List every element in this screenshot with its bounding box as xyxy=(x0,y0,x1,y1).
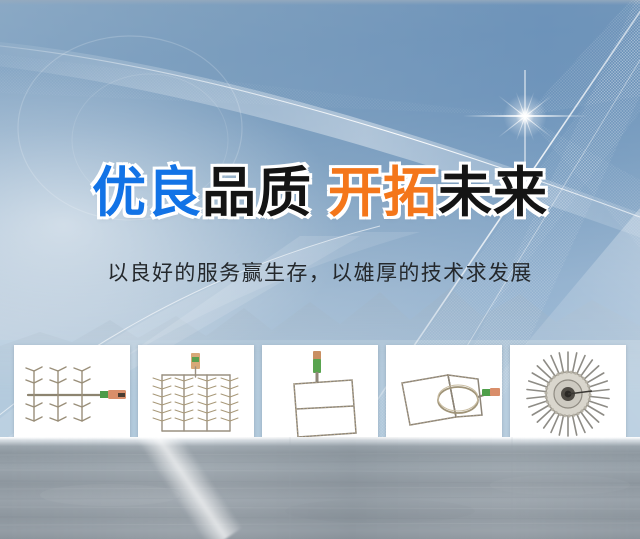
ground-texture xyxy=(0,437,640,539)
product-card[interactable] xyxy=(510,345,626,444)
comb-style-plating-rack-icon xyxy=(14,345,130,444)
headline-segment-4: 未来 xyxy=(438,161,548,224)
sky-top-rim xyxy=(0,0,640,5)
headline-segment-3: 开拓 xyxy=(328,161,438,224)
ground-surface xyxy=(0,437,640,539)
product-card-row xyxy=(14,345,626,445)
product-card[interactable] xyxy=(386,345,502,444)
product-card[interactable] xyxy=(138,345,254,444)
ring-frame-rack-icon xyxy=(386,345,502,444)
radial-sunburst-rack-icon xyxy=(510,345,626,444)
headline-segment-2: 品质 xyxy=(202,161,312,224)
promo-banner: 优良品质开拓未来 以良好的服务赢生存，以雄厚的技术求发展 xyxy=(0,0,640,539)
double-row-spike-rack-icon xyxy=(138,345,254,444)
headline: 优良品质开拓未来 xyxy=(0,162,640,224)
product-card[interactable] xyxy=(262,345,378,444)
rectangular-frame-rack-icon xyxy=(262,345,378,444)
product-card[interactable] xyxy=(14,345,130,444)
subtitle: 以良好的服务赢生存，以雄厚的技术求发展 xyxy=(0,258,640,288)
headline-segment-1: 优良 xyxy=(92,161,202,224)
